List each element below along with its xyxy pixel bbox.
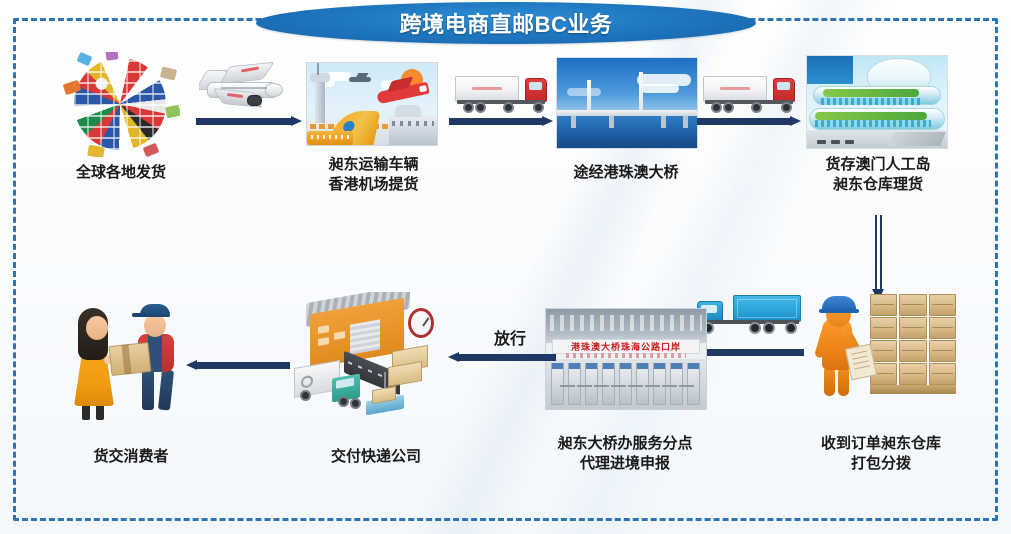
node-handover-express[interactable] <box>288 292 438 422</box>
airport-icon <box>306 62 438 146</box>
flow-diagram-canvas: 跨境电商直邮BC业务 全球各地发货 昶东运输车辆 香港机场提 <box>0 0 1011 534</box>
worker-pallet-icon <box>806 288 956 408</box>
label-order-packing: 收到订单昶东仓库 打包分拨 <box>793 434 969 475</box>
island-port-icon <box>806 55 948 149</box>
blue-container-truck-icon <box>697 293 801 341</box>
node-deliver-to-consumer[interactable] <box>62 298 192 423</box>
node-hk-airport-pickup[interactable] <box>306 62 438 146</box>
node-bridge-service-point[interactable]: 港珠澳大桥珠海公路口岸 <box>545 308 707 410</box>
node-order-packing[interactable] <box>806 288 956 408</box>
airplane-icon <box>199 58 283 116</box>
connector-plane-1 <box>199 58 283 116</box>
arrow-left-3 <box>186 360 290 371</box>
label-bridge-service-point: 昶东大桥办服务分点 代理进境申报 <box>520 434 730 475</box>
diagram-title-banner: 跨境电商直邮BC业务 <box>256 2 756 44</box>
warehouse-truck-icon <box>288 292 438 422</box>
node-macau-island-warehouse[interactable] <box>806 55 948 149</box>
label-hzm-bridge: 途经港珠澳大桥 <box>540 163 712 183</box>
label-global-shipping: 全球各地发货 <box>41 163 201 183</box>
arrow-right-2 <box>449 116 553 127</box>
label-handover-express: 交付快递公司 <box>296 447 456 467</box>
globe-flags-icon <box>62 52 180 157</box>
bridge-photo-icon <box>556 57 698 149</box>
arrow-right-3 <box>697 116 801 127</box>
arrow-right-1 <box>196 116 302 127</box>
node-global-shipping[interactable] <box>62 52 180 157</box>
page-title: 跨境电商直邮BC业务 <box>400 7 613 39</box>
white-red-truck-icon <box>703 72 795 118</box>
consumer-handoff-icon <box>62 298 192 423</box>
label-deliver-to-consumer: 货交消费者 <box>51 447 211 467</box>
customs-sign-text: 港珠澳大桥珠海公路口岸 <box>571 340 681 353</box>
connector-blue-truck <box>697 293 801 341</box>
label-macau-island-warehouse: 货存澳门人工岛 昶东仓库理货 <box>798 155 958 196</box>
connector-truck-2 <box>703 72 795 118</box>
arrow-left-1 <box>694 347 804 358</box>
white-red-truck-icon <box>455 72 547 118</box>
arrow-caption-release: 放行 <box>455 325 565 349</box>
customs-checkpoint-icon: 港珠澳大桥珠海公路口岸 <box>545 308 707 410</box>
connector-truck-1 <box>455 72 547 118</box>
arrow-left-2 <box>448 352 556 363</box>
label-hk-airport-pickup: 昶东运输车辆 香港机场提货 <box>296 155 451 196</box>
node-hzm-bridge[interactable] <box>556 57 698 149</box>
